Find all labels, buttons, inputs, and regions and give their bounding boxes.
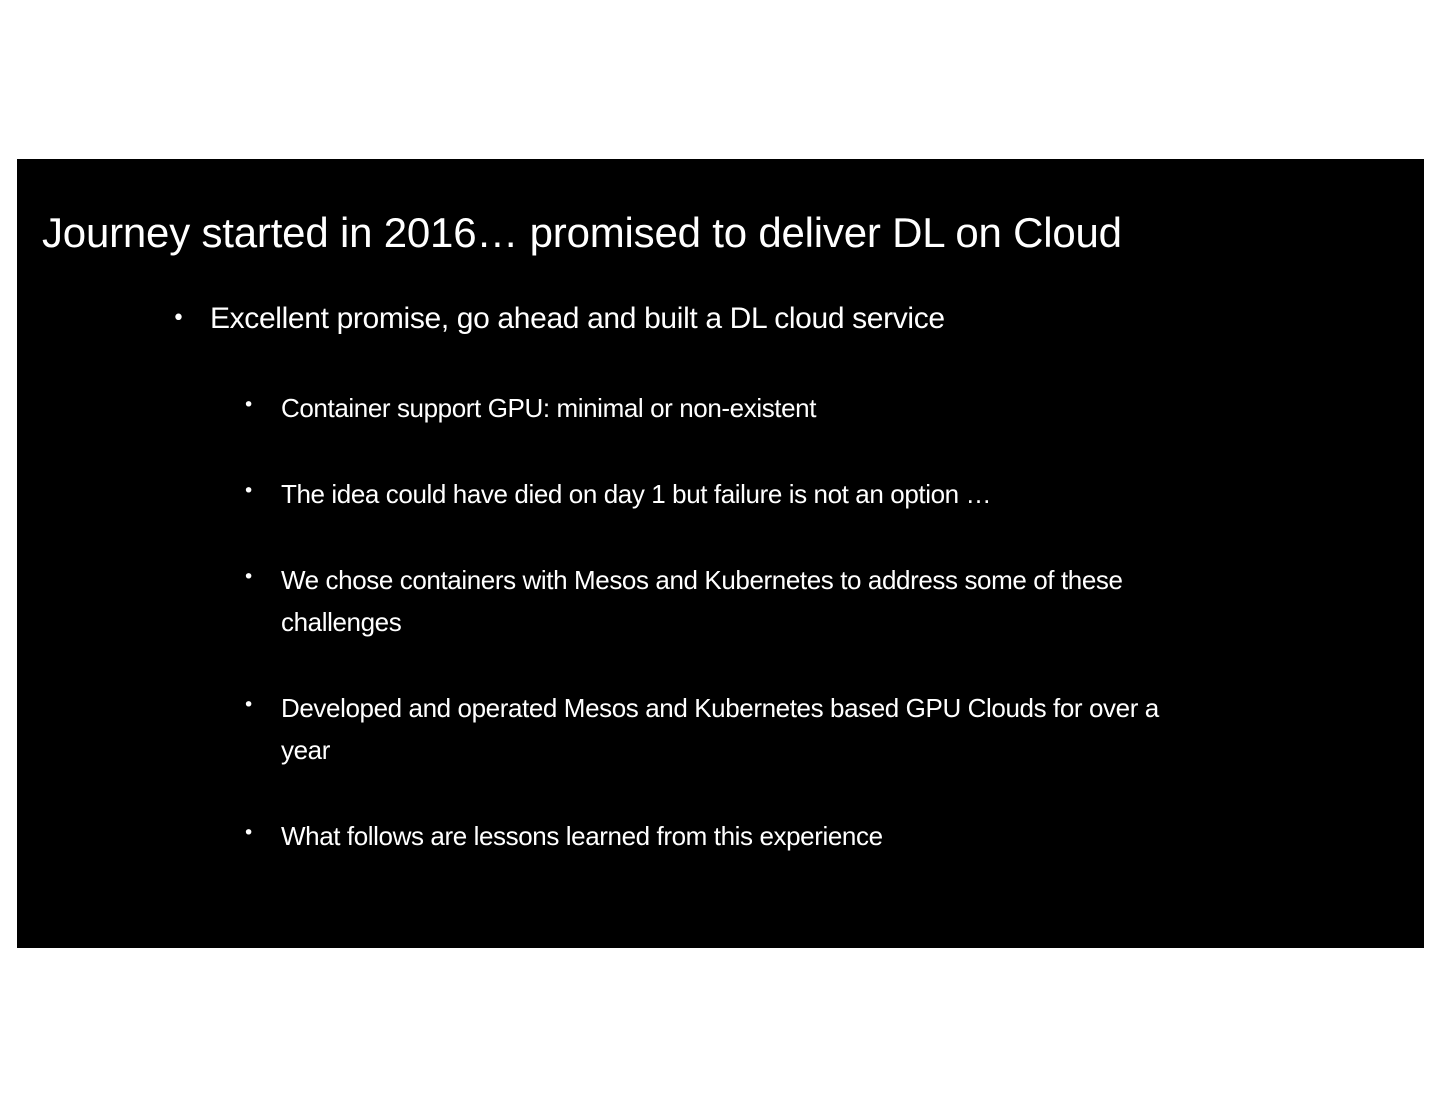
list-item-label: Developed and operated Mesos and Kuberne… <box>281 687 1161 771</box>
bullet-icon: • <box>243 473 281 509</box>
slide-canvas: Journey started in 2016… promised to del… <box>17 159 1424 948</box>
list-item-label: The idea could have died on day 1 but fa… <box>281 473 1241 515</box>
list-item-label: Excellent promise, go ahead and built a … <box>210 299 1250 339</box>
slide-page: Journey started in 2016… promised to del… <box>0 0 1440 1113</box>
page-title: Journey started in 2016… promised to del… <box>42 208 1382 258</box>
list-item: • The idea could have died on day 1 but … <box>17 473 1424 515</box>
list-item-label: We chose containers with Mesos and Kuber… <box>281 559 1161 643</box>
bullet-icon: • <box>243 387 281 423</box>
bullet-icon: • <box>243 815 281 851</box>
list-item: • Container support GPU: minimal or non-… <box>17 387 1424 429</box>
list-item: • What follows are lessons learned from … <box>17 815 1424 857</box>
list-item: • Developed and operated Mesos and Kuber… <box>17 687 1424 771</box>
list-item-label: Container support GPU: minimal or non-ex… <box>281 387 1241 429</box>
bullet-icon: • <box>172 299 210 339</box>
bullet-icon: • <box>243 687 281 723</box>
bullet-icon: • <box>243 559 281 595</box>
bullet-list: • Excellent promise, go ahead and built … <box>17 299 1424 857</box>
list-item-label: What follows are lessons learned from th… <box>281 815 1241 857</box>
list-item: • We chose containers with Mesos and Kub… <box>17 559 1424 643</box>
list-item: • Excellent promise, go ahead and built … <box>17 299 1424 339</box>
